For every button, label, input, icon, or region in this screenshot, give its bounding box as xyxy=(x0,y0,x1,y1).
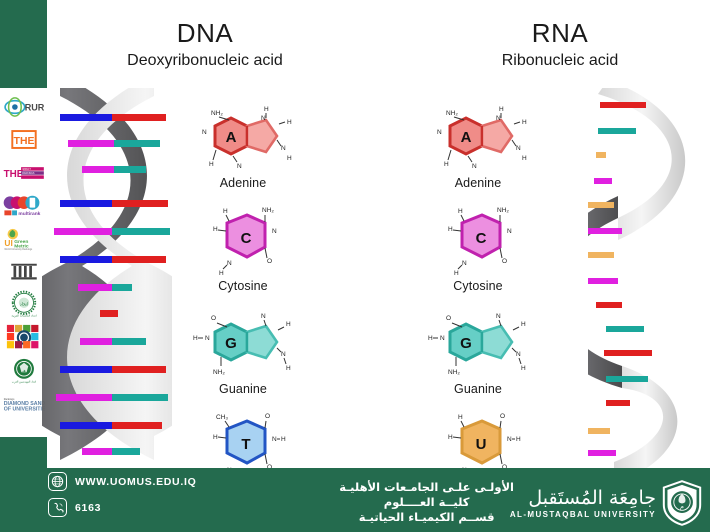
guanine-label: Guanine xyxy=(454,382,502,396)
svg-text:اتحاد: اتحاد xyxy=(19,302,27,307)
svg-text:N: N xyxy=(472,163,477,170)
dna-base-list: A NH₂ N H N H N H N H Adenine xyxy=(183,100,303,512)
phone-icon xyxy=(48,498,67,517)
svg-text:NH₂: NH₂ xyxy=(262,207,274,214)
svg-text:O: O xyxy=(446,315,451,322)
dna-double-helix-illustration xyxy=(42,88,172,488)
svg-text:N: N xyxy=(272,436,277,443)
svg-text:N: N xyxy=(440,335,445,342)
adenine-structure-icon: A NH₂ N H N H N H N H xyxy=(424,100,532,178)
svg-text:H: H xyxy=(193,335,198,342)
svg-text:C: C xyxy=(241,230,252,247)
adenine-label: Adenine xyxy=(220,176,267,190)
svg-text:اتحاد الجامعات العربية: اتحاد الجامعات العربية xyxy=(11,314,36,318)
university-name-english: AL-MUSTAQBAL UNIVERSITY xyxy=(510,510,656,519)
svg-text:NH₂: NH₂ xyxy=(497,207,509,214)
the-impact-rankings-logo: THE IMPACT RANKINGS xyxy=(3,157,45,188)
dna-column-heading: DNA Deoxyribonucleic acid xyxy=(55,18,355,72)
adenine-label: Adenine xyxy=(455,176,502,190)
svg-text:A: A xyxy=(226,129,237,146)
svg-text:O: O xyxy=(502,258,507,265)
globe-icon xyxy=(48,472,67,491)
svg-text:N: N xyxy=(205,335,210,342)
svg-text:G: G xyxy=(225,335,237,352)
rna-single-strand-illustration xyxy=(588,88,710,488)
cytosine-structure-icon: C H NH₂ H N O N H xyxy=(424,203,532,281)
iraqi-engineers-union-logo: هـ اتحاد المهندسين العرب xyxy=(3,355,45,386)
svg-text:N: N xyxy=(281,145,286,152)
svg-text:H: H xyxy=(448,434,453,441)
svg-text:A: A xyxy=(461,129,472,146)
svg-text:NH₂: NH₂ xyxy=(211,110,223,117)
svg-text:N: N xyxy=(496,313,501,320)
svg-text:U: U xyxy=(476,436,487,453)
footer-website-row[interactable]: WWW.UOMUS.EDU.IQ xyxy=(48,472,196,491)
green-accent-top-left xyxy=(0,0,47,88)
svg-text:H: H xyxy=(213,434,218,441)
dna-subtitle: Deoxyribonucleic acid xyxy=(55,50,355,72)
svg-text:O: O xyxy=(500,413,505,420)
university-logo: جامِعَة المُستَقبل AL-MUSTAQBAL UNIVERSI… xyxy=(510,480,702,526)
svg-text:N: N xyxy=(237,163,242,170)
svg-text:H: H xyxy=(287,155,292,162)
svg-text:م: م xyxy=(680,503,684,510)
svg-text:هـ: هـ xyxy=(21,369,26,374)
cytosine-structure-icon: C H NH₂ H N O N H xyxy=(189,203,297,281)
footer-phone-text: 6163 xyxy=(75,502,101,514)
svg-text:NH₂: NH₂ xyxy=(448,369,460,376)
svg-text:N: N xyxy=(507,436,512,443)
dna-base-adenine: A NH₂ N H N H N H N H Adenine xyxy=(183,100,303,203)
svg-text:H: H xyxy=(458,414,463,421)
footer-arabic-line-3: قســم الكيميـاء الحياتيـة xyxy=(339,510,514,525)
svg-text:Rankings: Rankings xyxy=(3,397,14,401)
svg-text:H: H xyxy=(521,365,526,372)
rna-base-list: A NH₂ N H N H N H N H Adenine xyxy=(418,100,538,512)
svg-text:O: O xyxy=(267,258,272,265)
adenine-structure-icon: A NH₂ N H N H N H N H xyxy=(189,100,297,178)
svg-text:N: N xyxy=(272,228,277,235)
svg-text:O: O xyxy=(265,413,270,420)
svg-text:H: H xyxy=(209,161,214,168)
footer-phone-row[interactable]: 6163 xyxy=(48,498,196,517)
dna-base-guanine: G O HN NH₂ N H N H Guanine xyxy=(183,306,303,409)
rna-base-adenine: A NH₂ N H N H N H N H Adenine xyxy=(418,100,538,203)
svg-text:N: N xyxy=(516,145,521,152)
svg-text:N: N xyxy=(261,115,266,122)
svg-text:OF UNIVERSITIES: OF UNIVERSITIES xyxy=(3,406,44,412)
university-name-arabic: جامِعَة المُستَقبل xyxy=(510,487,656,509)
svg-text:H: H xyxy=(428,335,433,342)
svg-text:THE: THE xyxy=(13,136,34,147)
svg-text:H: H xyxy=(223,208,228,215)
svg-text:H: H xyxy=(286,365,291,372)
svg-text:N: N xyxy=(227,260,232,267)
rna-base-cytosine: C H NH₂ H N O N H Cytosine xyxy=(418,203,538,306)
sdg-goals-logo xyxy=(3,322,45,353)
guanine-label: Guanine xyxy=(219,382,267,396)
cytosine-label: Cytosine xyxy=(453,279,502,293)
svg-text:THE: THE xyxy=(3,169,23,180)
svg-text:H: H xyxy=(522,119,527,126)
rna-title: RNA xyxy=(420,18,700,48)
svg-text:H: H xyxy=(521,321,526,328)
pillars-accreditation-logo xyxy=(3,256,45,287)
svg-text:H: H xyxy=(281,436,286,443)
diamond-ranking-logo: Rankings DIAMOND SANDS OF UNIVERSITIES xyxy=(3,388,45,419)
svg-text:G: G xyxy=(460,335,472,352)
slide-canvas: RUR THE THE IMPACT RANKINGS xyxy=(0,0,710,532)
svg-text:H: H xyxy=(454,270,459,277)
svg-text:N: N xyxy=(507,228,512,235)
svg-text:H: H xyxy=(522,155,527,162)
svg-text:H: H xyxy=(516,436,521,443)
svg-text:H: H xyxy=(286,321,291,328)
footer-arabic-line-2: كليــة العــــلوم xyxy=(339,495,514,510)
svg-text:H: H xyxy=(287,119,292,126)
guanine-structure-icon: G O HN NH₂ N H N H xyxy=(189,306,297,384)
dna-title: DNA xyxy=(55,18,355,48)
svg-text:N: N xyxy=(462,260,467,267)
rur-ranking-logo: RUR xyxy=(3,91,45,122)
svg-text:CH₃: CH₃ xyxy=(216,414,228,421)
university-logo-text: جامِعَة المُستَقبل AL-MUSTAQBAL UNIVERSI… xyxy=(510,487,656,519)
svg-text:H: H xyxy=(444,161,449,168)
svg-text:H: H xyxy=(213,226,218,233)
cytosine-label: Cytosine xyxy=(218,279,267,293)
footer-website-text: WWW.UOMUS.EDU.IQ xyxy=(75,476,196,488)
svg-text:multirank: multirank xyxy=(18,211,40,217)
footer-bar: WWW.UOMUS.EDU.IQ 6163 الأولـى علـى الجام… xyxy=(0,468,710,532)
rna-subtitle: Ribonucleic acid xyxy=(420,50,700,72)
svg-text:NH₂: NH₂ xyxy=(446,110,458,117)
university-shield-icon: م xyxy=(662,480,702,526)
svg-text:T: T xyxy=(241,436,250,453)
svg-text:O: O xyxy=(211,315,216,322)
svg-text:N: N xyxy=(437,129,442,136)
the-times-higher-education-logo: THE xyxy=(3,124,45,155)
footer-contact-block: WWW.UOMUS.EDU.IQ 6163 xyxy=(48,472,196,524)
svg-text:H: H xyxy=(219,270,224,277)
svg-text:H: H xyxy=(458,208,463,215)
footer-arabic-line-1: الأولـى علـى الجامـعات الأهليـة xyxy=(339,480,514,495)
footer-arabic-block: الأولـى علـى الجامـعات الأهليـة كليــة ا… xyxy=(339,480,514,525)
svg-text:C: C xyxy=(476,230,487,247)
svg-text:NH₂: NH₂ xyxy=(213,369,225,376)
svg-text:N: N xyxy=(516,351,521,358)
dna-base-cytosine: C H NH₂ H N O N H Cytosine xyxy=(183,203,303,306)
svg-text:IMPACT: IMPACT xyxy=(22,168,31,171)
svg-text:UI: UI xyxy=(4,238,12,248)
rna-base-guanine: G O HN NH₂ N H N H Guanine xyxy=(418,306,538,409)
arab-universities-union-logo: اتحاد اتحاد الجامعات العربية xyxy=(3,289,45,320)
svg-text:N: N xyxy=(261,313,266,320)
accreditation-logo-sidebar: RUR THE THE IMPACT RANKINGS xyxy=(0,88,47,437)
svg-text:N: N xyxy=(202,129,207,136)
svg-text:H: H xyxy=(264,106,269,113)
svg-text:H: H xyxy=(448,226,453,233)
svg-text:World University Rankings: World University Rankings xyxy=(4,247,33,250)
u-multirank-logo: multirank xyxy=(3,190,45,221)
svg-text:N: N xyxy=(281,351,286,358)
svg-text:اتحاد المهندسين العرب: اتحاد المهندسين العرب xyxy=(11,381,36,384)
rna-column-heading: RNA Ribonucleic acid xyxy=(420,18,700,72)
svg-text:H: H xyxy=(499,106,504,113)
svg-text:RANKINGS: RANKINGS xyxy=(22,172,35,175)
svg-text:N: N xyxy=(496,115,501,122)
guanine-structure-icon: G O HN NH₂ N H N H xyxy=(424,306,532,384)
ui-greenmetric-logo: UI Green Metric World University Ranking… xyxy=(3,223,45,254)
